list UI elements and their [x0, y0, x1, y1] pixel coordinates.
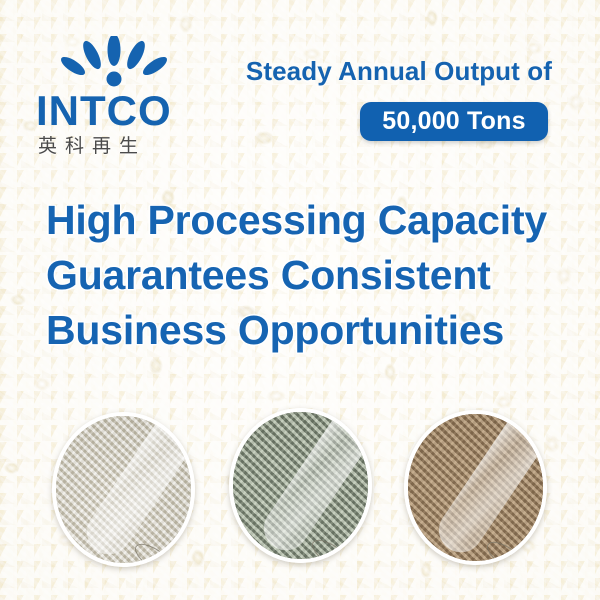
output-volume-value: 50,000 Tons	[382, 109, 525, 134]
headline-line-1: High Processing Capacity	[46, 193, 576, 248]
sample-circle-green	[229, 408, 372, 563]
headline-line-2: Guarantees Consistent	[46, 248, 576, 303]
output-tagline: Steady Annual Output of	[246, 56, 552, 87]
brand-wordmark: INTCO	[36, 90, 192, 132]
brand-logo: INTCO 英科再生	[32, 36, 192, 156]
sample-circle-brown	[404, 410, 547, 565]
sample-circle-clear	[52, 412, 195, 567]
output-volume-badge: 50,000 Tons	[360, 102, 548, 141]
brand-chinese-name: 英科再生	[38, 137, 192, 156]
poster-canvas: INTCO 英科再生 Steady Annual Output of 50,00…	[0, 0, 600, 600]
headline: High Processing Capacity Guarantees Cons…	[46, 193, 576, 358]
headline-line-3: Business Opportunities	[46, 303, 576, 358]
intco-burst-logo-icon	[54, 36, 174, 92]
product-sample-gallery	[0, 408, 600, 573]
